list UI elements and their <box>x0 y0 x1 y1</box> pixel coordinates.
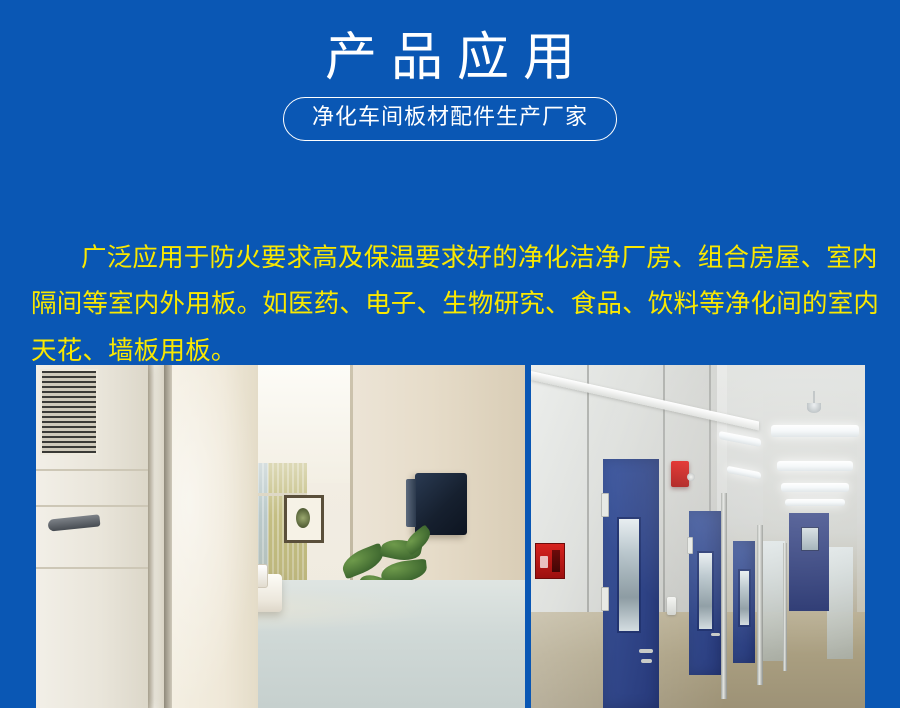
ceiling-light-fixture <box>777 461 853 471</box>
door-hinge <box>601 587 609 611</box>
page-title: 产品应用 <box>0 0 900 89</box>
ceiling-light-fixture <box>781 483 849 492</box>
subtitle-container: 净化车间板材配件生产厂家 <box>0 97 900 141</box>
door-handle-icon <box>639 649 653 653</box>
corridor-glass-panel <box>827 547 853 659</box>
fire-extinguisher-cabinet-icon <box>535 543 565 579</box>
wall-picture-frame <box>284 495 324 543</box>
partition-post <box>757 525 763 685</box>
door-vision-panel <box>697 551 714 631</box>
subtitle-badge: 净化车间板材配件生产厂家 <box>283 97 617 141</box>
product-application-page: 产品应用 净化车间板材配件生产厂家 广泛应用于防火要求高及保温要求好的净化洁净厂… <box>0 0 900 708</box>
fire-alarm-icon <box>671 461 689 487</box>
door-vision-panel <box>738 569 751 627</box>
door-handle-icon <box>48 514 101 531</box>
door-seam <box>36 567 148 569</box>
description-paragraph: 广泛应用于防火要求高及保温要求好的净化洁净厂房、组合房屋、室内隔间等室内外用板。… <box>31 235 881 375</box>
corridor-glass-panel <box>763 541 785 661</box>
door-jamb <box>164 365 172 708</box>
foreground-wall <box>172 365 258 708</box>
door-seam <box>36 469 148 471</box>
page-header: 产品应用 净化车间板材配件生产厂家 <box>0 0 900 141</box>
inner-room-area <box>258 365 525 708</box>
door-handle-icon <box>711 633 720 636</box>
door-seam <box>36 505 148 507</box>
door-hinge <box>687 537 693 554</box>
door-frame <box>148 365 164 708</box>
foreground-door <box>36 365 148 708</box>
partition-post <box>721 493 727 699</box>
partition-post <box>783 543 787 671</box>
ceiling-light-fixture <box>771 425 859 437</box>
door-vision-panel <box>617 517 641 633</box>
wall-switch-icon <box>667 597 676 615</box>
application-gallery <box>36 365 865 708</box>
ceiling-sprinkler-icon <box>807 403 821 413</box>
ceiling-light-fixture <box>785 499 845 506</box>
hospital-room-scene <box>36 365 525 708</box>
gallery-image-cleanroom-corridor <box>531 365 865 708</box>
door-louver-vent <box>40 369 98 455</box>
far-door-window <box>801 527 819 551</box>
gallery-image-hospital-room <box>36 365 525 708</box>
door-handle-icon <box>641 659 652 663</box>
cleanroom-corridor-scene <box>531 365 865 708</box>
door-hinge <box>601 493 609 517</box>
